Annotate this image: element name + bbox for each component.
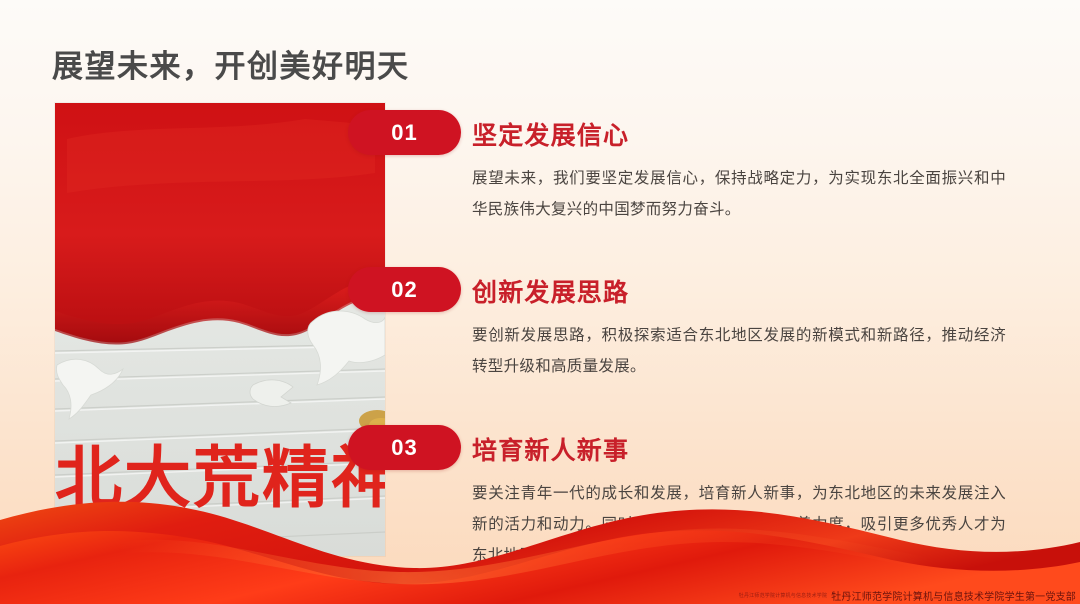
section-heading: 坚定发展信心 [472, 116, 629, 152]
sections-container: 01 坚定发展信心 展望未来，我们要坚定发展信心，保持战略定力，为实现东北全面振… [0, 0, 1080, 604]
section-number-badge: 02 [348, 267, 461, 312]
section-heading: 培育新人新事 [472, 431, 629, 467]
footer-organization: 牡丹江师范学院计算机与信息技术学院学生第一党支部 [831, 588, 1076, 603]
section-body: 要关注青年一代的成长和发展，培育新人新事，为东北地区的未来发展注入新的活力和动力… [472, 478, 1006, 571]
section-body: 要创新发展思路，积极探索适合东北地区发展的新模式和新路径，推动经济转型升级和高质… [472, 320, 1006, 382]
footer: 牡丹江师范学院计算机与信息技术学院 牡丹江师范学院计算机与信息技术学院学生第一党… [739, 588, 1076, 603]
slide-canvas: 展望未来，开创美好明天 [0, 0, 1080, 604]
section-body: 展望未来，我们要坚定发展信心，保持战略定力，为实现东北全面振兴和中华民族伟大复兴… [472, 163, 1006, 225]
section-number-badge: 03 [348, 425, 461, 470]
footer-watermark: 牡丹江师范学院计算机与信息技术学院 [739, 592, 827, 599]
section-number-badge: 01 [348, 110, 461, 155]
section-heading: 创新发展思路 [472, 273, 629, 309]
